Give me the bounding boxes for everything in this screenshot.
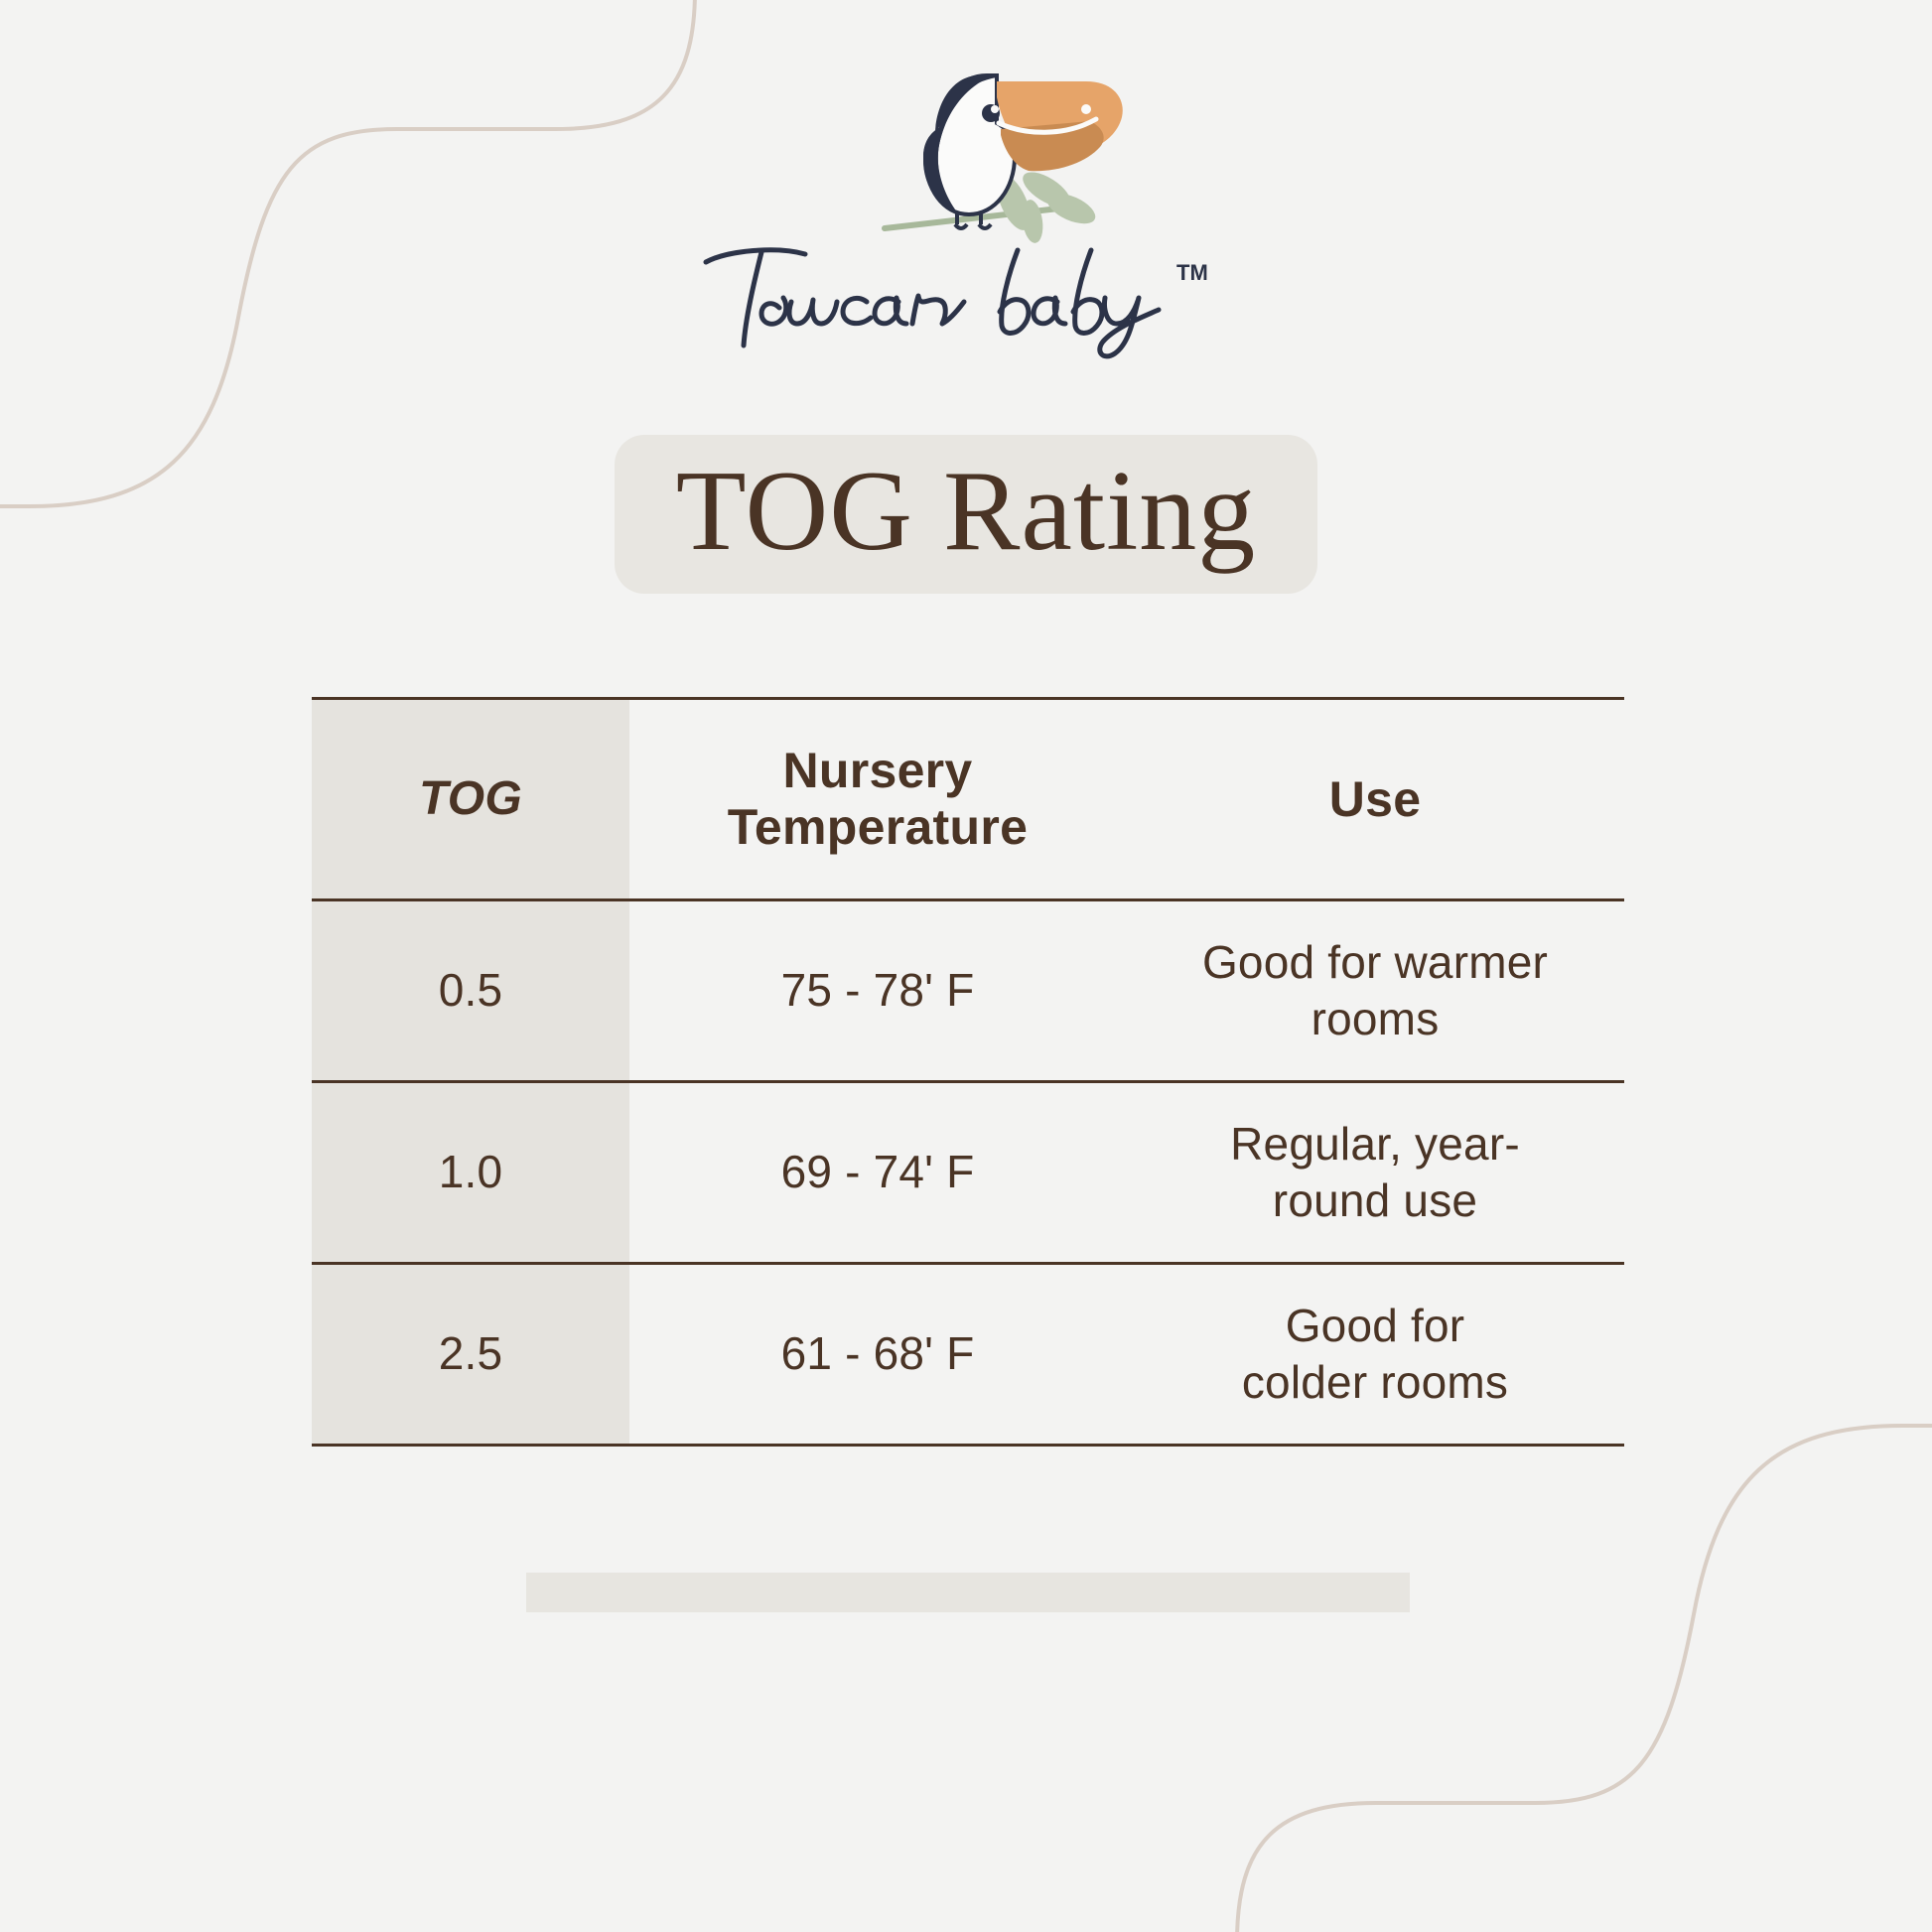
cell-use: Good for colder rooms — [1126, 1264, 1624, 1446]
trademark-symbol: TM — [1176, 260, 1208, 285]
bird-eye-highlight-icon — [991, 105, 999, 113]
cell-tog-value: 2.5 — [312, 1264, 629, 1446]
use-description-line2: round use — [1126, 1173, 1624, 1229]
column-header-use: Use — [1126, 699, 1624, 900]
brand-wordmark: TM — [688, 232, 1244, 361]
column-header-tog: TOG — [312, 699, 629, 900]
cell-temperature: 69 - 74' F — [629, 1082, 1126, 1264]
use-description-line1: Good for warmer — [1126, 934, 1624, 991]
page-title: TOG Rating — [676, 454, 1257, 569]
tog-value: 1.0 — [312, 1144, 629, 1200]
column-header-use-label: Use — [1126, 771, 1624, 828]
page-title-pill: TOG Rating — [615, 435, 1317, 594]
toucan-bird-icon — [830, 58, 1128, 246]
footer-bar — [526, 1573, 1410, 1612]
cell-tog-value: 1.0 — [312, 1082, 629, 1264]
use-description-line1: Regular, year- — [1126, 1116, 1624, 1173]
table-header-row: TOG Nursery Temperature Use — [312, 699, 1624, 900]
column-header-temperature: Nursery Temperature — [629, 699, 1126, 900]
beak-dot-icon — [1081, 104, 1091, 114]
tog-rating-table: TOG Nursery Temperature Use 0.5 — [312, 697, 1624, 1447]
temperature-value: 75 - 78' F — [629, 962, 1126, 1019]
use-description-line2: rooms — [1126, 991, 1624, 1047]
cell-temperature: 75 - 78' F — [629, 900, 1126, 1082]
column-header-temperature-line1: Nursery — [629, 743, 1126, 799]
tog-rating-infographic: TM TOG Rating TOG Nursery Temperature — [0, 0, 1932, 1932]
brand-logo: TM — [0, 58, 1932, 361]
use-description-line1: Good for — [1126, 1298, 1624, 1354]
cell-temperature: 61 - 68' F — [629, 1264, 1126, 1446]
tog-value: 0.5 — [312, 962, 629, 1019]
cell-use: Regular, year- round use — [1126, 1082, 1624, 1264]
cell-tog-value: 0.5 — [312, 900, 629, 1082]
use-description-line2: colder rooms — [1126, 1354, 1624, 1411]
temperature-value: 61 - 68' F — [629, 1325, 1126, 1382]
temperature-value: 69 - 74' F — [629, 1144, 1126, 1200]
cell-use: Good for warmer rooms — [1126, 900, 1624, 1082]
table-row: 1.0 69 - 74' F Regular, year- round use — [312, 1082, 1624, 1264]
column-header-tog-label: TOG — [312, 772, 629, 827]
table-row: 2.5 61 - 68' F Good for colder rooms — [312, 1264, 1624, 1446]
tog-value: 2.5 — [312, 1325, 629, 1382]
decor-curve-bottomright-icon — [1237, 1426, 1932, 1932]
column-header-temperature-line2: Temperature — [629, 799, 1126, 856]
table-row: 0.5 75 - 78' F Good for warmer rooms — [312, 900, 1624, 1082]
